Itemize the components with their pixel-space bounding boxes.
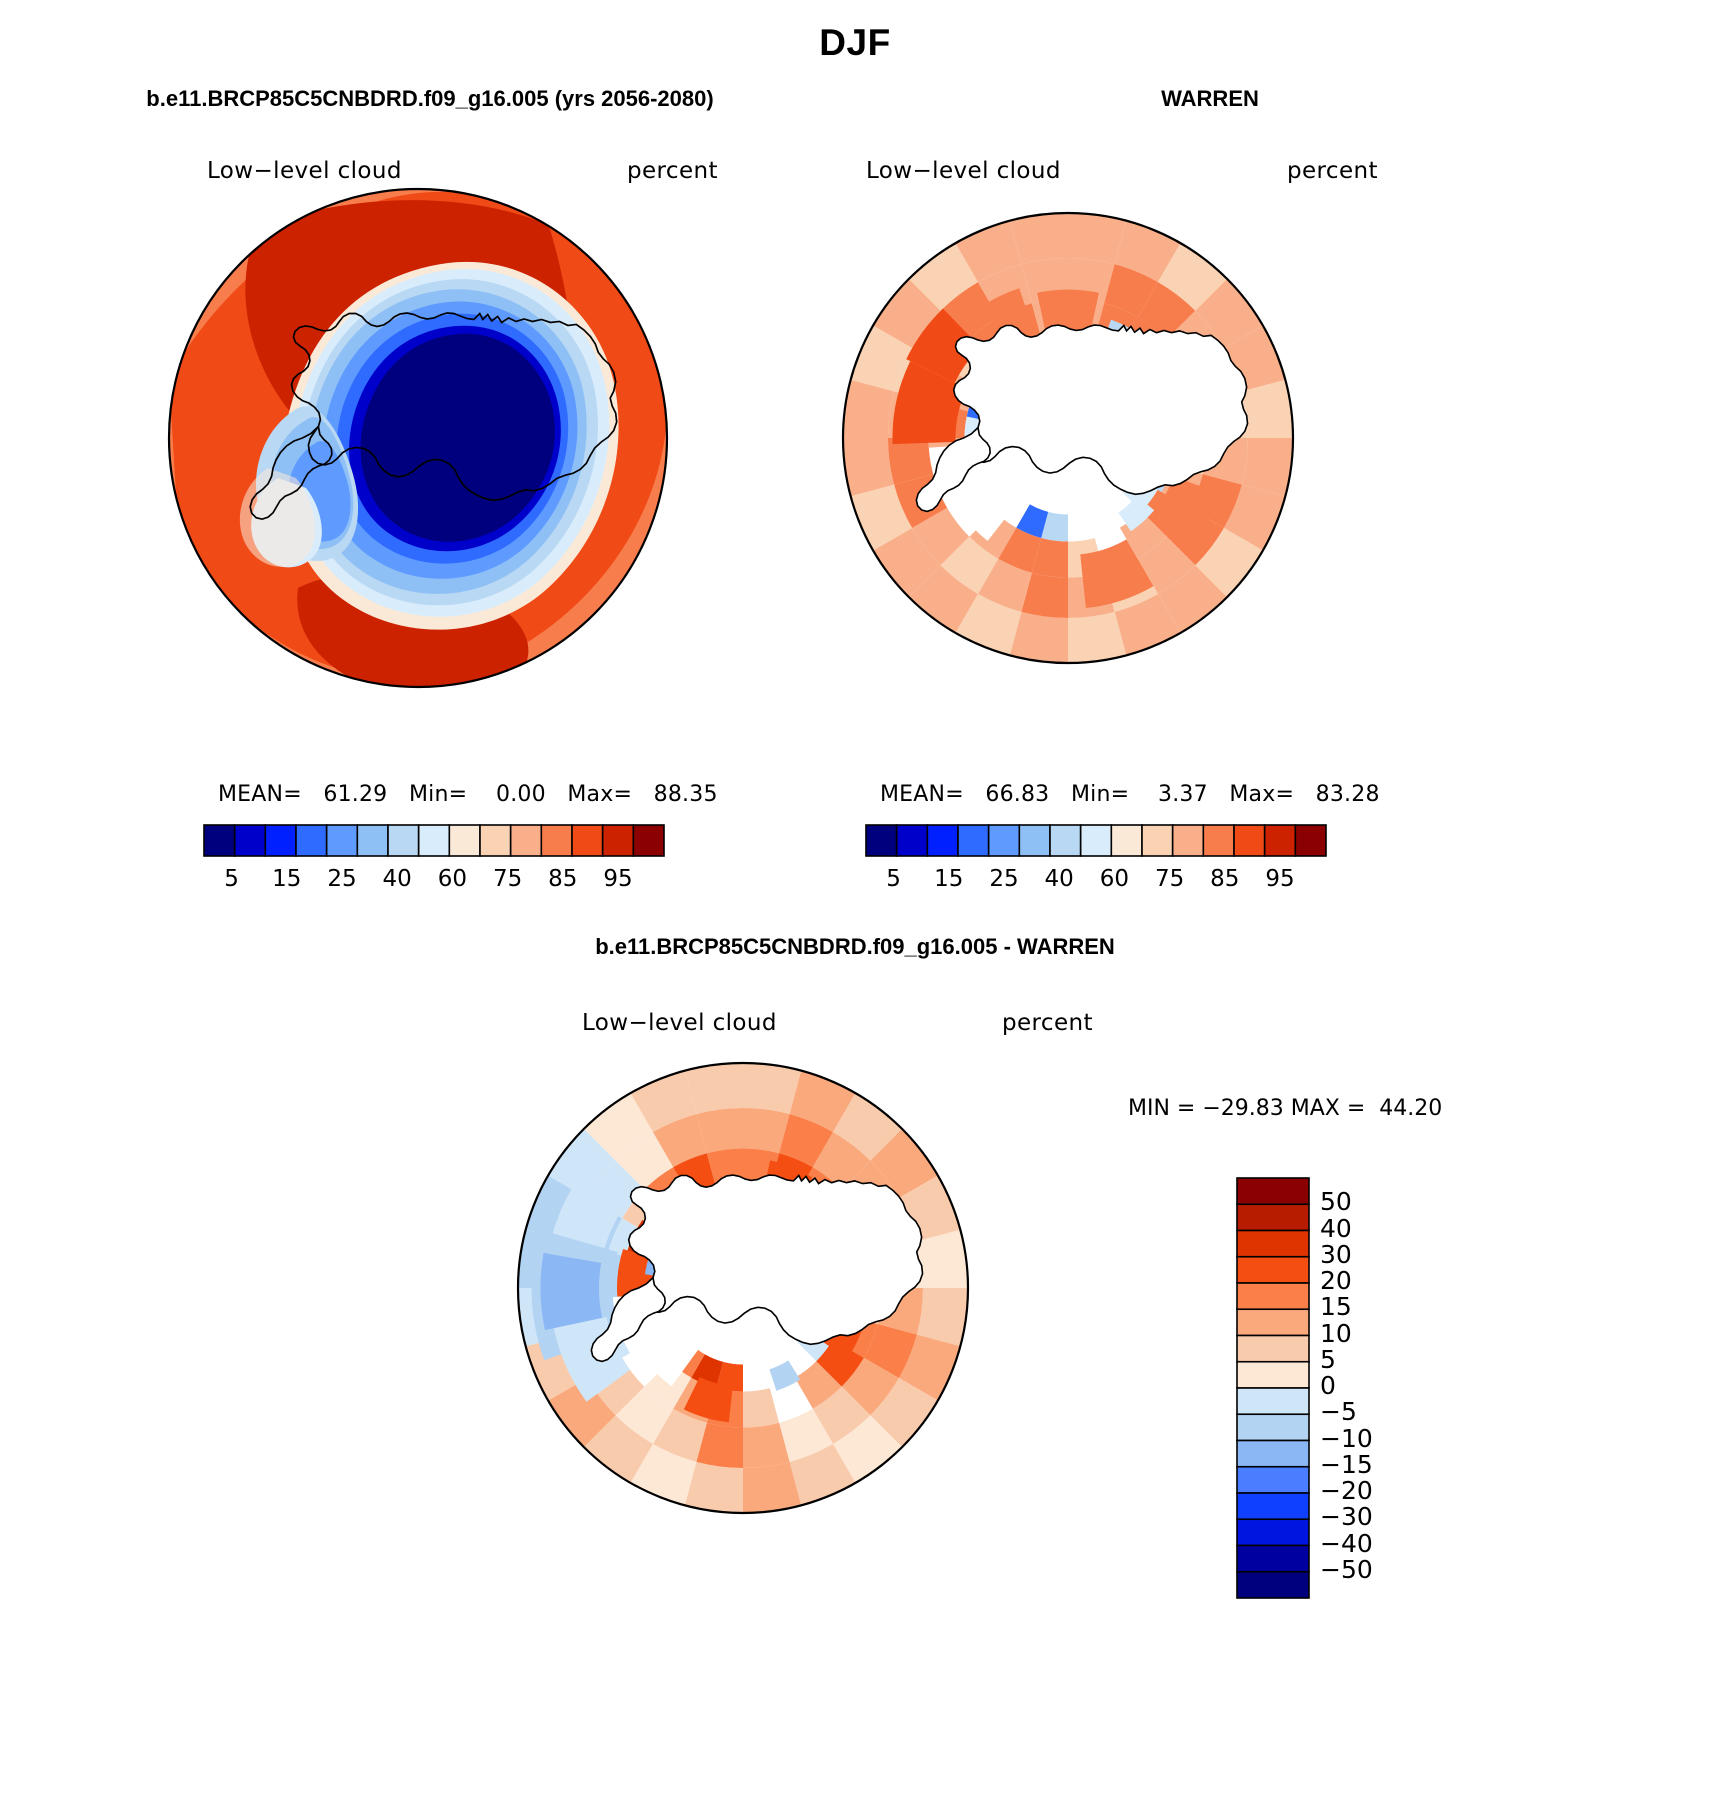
colorbar-cell	[897, 825, 928, 856]
colorbar-cell	[1237, 1414, 1309, 1440]
grid-cell	[743, 1185, 770, 1215]
colorbar-tick: 50	[1320, 1187, 1352, 1216]
model-variable-label: Low−level cloud	[207, 158, 402, 184]
grid-cell	[743, 1388, 779, 1428]
colorbar-cell	[603, 825, 634, 856]
grid-cell	[691, 1188, 723, 1222]
grid-cell	[1195, 279, 1263, 348]
grid-cell	[1016, 338, 1048, 372]
colorbar-cell	[1237, 1362, 1309, 1388]
grid-cell	[1068, 213, 1126, 264]
colorbar-tick: 75	[1148, 866, 1192, 892]
grid-cell	[909, 565, 978, 633]
grid-cell	[548, 1378, 616, 1447]
colorbar-cell	[1050, 825, 1081, 856]
colorbar-cell	[1237, 1231, 1309, 1257]
grid-cell	[631, 1444, 697, 1505]
grid-cell	[1141, 490, 1189, 537]
grid-cell	[929, 438, 969, 474]
grid-cell	[604, 1252, 644, 1288]
colorbar-tick: 60	[1092, 866, 1136, 892]
colorbar-cell	[511, 825, 542, 856]
colorbar-cell	[265, 825, 296, 856]
grid-cell	[584, 1415, 653, 1483]
colorbar-tick: 5	[210, 866, 254, 892]
colorbar-cell	[1237, 1519, 1309, 1545]
grid-cell	[978, 559, 1032, 612]
colorbar-cell	[1237, 1309, 1309, 1335]
colorbar-tick: −5	[1320, 1397, 1357, 1426]
grid-cell	[1104, 264, 1158, 317]
grid-cell	[743, 1108, 790, 1153]
colorbar-tick: 5	[1320, 1345, 1336, 1374]
grid-cell	[1242, 438, 1293, 496]
grid-cell	[554, 1317, 630, 1402]
colorbar-cell	[388, 825, 419, 856]
grid-cell	[770, 1378, 813, 1423]
grid-cell	[653, 1409, 707, 1462]
diff-minmax: MIN = −29.83 MAX = 44.20	[1128, 1096, 1442, 1121]
colorbar-tick: 60	[430, 866, 474, 892]
grid-cell	[1142, 438, 1172, 465]
grid-cell	[541, 1253, 603, 1330]
panel-title-obs: WARREN	[860, 86, 1560, 112]
grid-cell	[1095, 528, 1138, 573]
grid-cell	[1118, 496, 1154, 531]
grid-cell	[1168, 402, 1208, 438]
grid-cell	[763, 1188, 795, 1222]
grid-cell	[707, 1149, 743, 1189]
grid-cell	[1021, 258, 1068, 303]
grid-cell	[870, 1129, 938, 1198]
grid-cell	[781, 1342, 816, 1378]
grid-cell	[584, 1093, 653, 1161]
colorbar-tick: 25	[982, 866, 1026, 892]
grid-cell	[809, 1308, 843, 1340]
grid-cell	[1155, 383, 1183, 421]
grid-cell	[797, 1326, 833, 1361]
grid-cell	[563, 1241, 608, 1288]
grid-cell	[1010, 213, 1068, 264]
grid-cell	[1068, 299, 1104, 339]
grid-cell	[817, 1288, 847, 1315]
grid-cell	[670, 1342, 705, 1378]
grid-cell	[1167, 508, 1224, 566]
grid-cell	[1021, 573, 1068, 618]
grid-cell	[1138, 537, 1196, 594]
grid-cell	[1080, 539, 1153, 608]
colorbar-tick: 40	[1037, 866, 1081, 892]
colorbar-cell	[1237, 1572, 1309, 1598]
grid-cell	[627, 1220, 672, 1262]
grid-cell	[743, 1423, 790, 1468]
grid-cell	[929, 402, 969, 438]
obs-colorbar	[866, 823, 1326, 859]
grid-cell	[968, 386, 1002, 418]
grid-cell	[1168, 438, 1208, 474]
grid-cell	[873, 279, 941, 348]
grid-cell	[716, 1185, 743, 1215]
colorbar-cell	[1142, 825, 1173, 856]
colorbar-tick: 10	[1320, 1319, 1352, 1348]
grid-cell	[1120, 317, 1167, 365]
grid-cell	[967, 389, 997, 421]
colorbar-cell	[1237, 1467, 1309, 1493]
grid-cell	[933, 465, 978, 508]
grid-cell	[1203, 438, 1248, 485]
grid-cell	[1224, 485, 1285, 551]
colorbar-cell	[1237, 1546, 1309, 1572]
grid-cell	[640, 1261, 670, 1288]
grid-cell	[604, 1288, 644, 1324]
grid-cell	[685, 1462, 743, 1513]
colorbar-cell	[235, 825, 266, 856]
grid-cell	[763, 1354, 795, 1388]
colorbar-cell	[1237, 1178, 1309, 1204]
grid-cell	[894, 348, 947, 402]
grid-cell	[779, 1409, 833, 1462]
grid-cell	[622, 1189, 670, 1236]
colorbar-cell	[989, 825, 1020, 856]
grid-cell	[743, 1149, 779, 1189]
grid-cell	[888, 438, 933, 485]
grid-cell	[864, 1324, 917, 1378]
grid-cell	[608, 1218, 653, 1261]
grid-cell	[978, 264, 1032, 317]
grid-cell	[947, 490, 995, 537]
colorbar-cell	[296, 825, 327, 856]
grid-cell	[813, 1132, 871, 1189]
grid-cell	[608, 1315, 653, 1358]
grid-cell	[894, 474, 947, 528]
grid-cell	[969, 317, 1016, 365]
panel-title-diff: b.e11.BRCP85C5CNBDRD.f09_g16.005 - WARRE…	[0, 934, 1710, 960]
colorbar-tick: −30	[1320, 1502, 1373, 1531]
colorbar-tick: 0	[1320, 1371, 1336, 1400]
colorbar-cell	[1237, 1388, 1309, 1414]
grid-cell	[1224, 326, 1285, 392]
grid-cell	[526, 1176, 587, 1242]
grid-cell	[673, 1378, 716, 1423]
colorbar-tick: 15	[1320, 1292, 1352, 1321]
grid-cell	[518, 1230, 569, 1288]
grid-cell	[563, 1288, 608, 1335]
grid-cell	[817, 1261, 847, 1288]
colorbar-tick: −20	[1320, 1476, 1373, 1505]
grid-cell	[929, 438, 1068, 508]
grid-cell	[691, 1354, 723, 1388]
grid-cell	[553, 1172, 627, 1249]
grid-cell	[878, 1288, 923, 1335]
grid-cell	[1068, 612, 1126, 663]
grid-cell	[1095, 303, 1138, 348]
grid-cell	[645, 1248, 673, 1278]
grid-cell	[1203, 391, 1248, 438]
grid-cell	[1134, 386, 1168, 418]
grid-cell	[790, 1444, 856, 1505]
colorbar-tick: 5	[872, 866, 916, 892]
grid-cell	[842, 1358, 899, 1416]
grid-cell	[893, 361, 967, 444]
colorbar-cell	[1019, 825, 1050, 856]
grid-cell	[548, 1129, 616, 1198]
grid-cell	[696, 1423, 743, 1468]
colorbar-tick: 75	[486, 866, 530, 892]
grid-cell	[870, 1378, 938, 1447]
grid-cell	[617, 1249, 657, 1297]
grid-cell	[1041, 512, 1068, 542]
grid-cell	[650, 1195, 706, 1251]
colorbar-cell	[1237, 1441, 1309, 1467]
grid-cell	[816, 1189, 864, 1236]
grid-cell	[917, 1230, 968, 1288]
panel-title-model: b.e11.BRCP85C5CNBDRD.f09_g16.005 (yrs 20…	[0, 86, 860, 112]
grid-cell	[769, 1361, 800, 1391]
colorbar-cell	[541, 825, 572, 856]
grid-cell	[1068, 512, 1095, 542]
grid-cell	[843, 380, 894, 438]
grid-cell	[953, 470, 1027, 541]
grid-cell	[1032, 299, 1068, 339]
colorbar-tick: 85	[1203, 866, 1247, 892]
colorbar-cell	[1081, 825, 1112, 856]
grid-cell	[998, 528, 1041, 573]
colorbar-tick: −10	[1320, 1424, 1373, 1453]
grid-cell	[793, 1181, 839, 1227]
colorbar-cell	[419, 825, 450, 856]
grid-cell	[644, 1361, 691, 1409]
grid-cell	[956, 221, 1022, 282]
grid-cell	[636, 1320, 704, 1387]
grid-cell	[613, 1288, 743, 1353]
grid-cell	[1068, 335, 1095, 365]
grid-cell	[888, 391, 933, 438]
grid-cell	[685, 1063, 743, 1114]
grid-cell	[1106, 492, 1141, 528]
grid-cell	[1016, 504, 1048, 538]
grid-cell	[843, 1252, 883, 1288]
grid-cell	[1120, 511, 1167, 559]
grid-cell	[873, 528, 941, 597]
grid-cell	[1104, 559, 1158, 612]
grid-cell	[643, 1308, 677, 1340]
grid-cell	[1142, 352, 1177, 389]
grid-cell	[631, 1071, 697, 1132]
grid-cell	[569, 1324, 622, 1378]
colorbar-tick: 30	[1320, 1240, 1352, 1269]
colorbar-cell	[572, 825, 603, 856]
colorbar-tick: 95	[596, 866, 640, 892]
grid-cell	[864, 1198, 917, 1252]
colorbar-tick: 20	[1320, 1266, 1352, 1295]
colorbar-tick: 25	[320, 866, 364, 892]
obs-units-label: percent	[1287, 158, 1378, 184]
obs-stats: MEAN= 66.83 Min= 3.37 Max= 83.28	[880, 782, 1380, 807]
grid-cell	[1189, 348, 1242, 402]
colorbar-tick: 95	[1258, 866, 1302, 892]
grid-cell	[912, 311, 969, 369]
grid-cell	[1105, 320, 1152, 358]
grid-cell	[587, 1358, 644, 1416]
grid-cell	[643, 1236, 677, 1268]
grid-cell	[653, 1114, 707, 1167]
colorbar-tick: −15	[1320, 1450, 1373, 1479]
grid-cell	[1141, 339, 1189, 386]
grid-cell	[995, 492, 1030, 528]
colorbar-cell	[327, 825, 358, 856]
colorbar-cell	[927, 825, 958, 856]
grid-cell	[1158, 465, 1203, 508]
grid-cell	[851, 326, 912, 392]
colorbar-cell	[1237, 1257, 1309, 1283]
grid-cell	[743, 1063, 801, 1114]
grid-cell	[978, 365, 1014, 400]
grid-cell	[1142, 456, 1174, 492]
grid-cell	[978, 476, 1014, 511]
grid-cell	[707, 1388, 743, 1428]
grid-cell	[843, 1288, 883, 1324]
grid-cell	[696, 1108, 743, 1153]
colorbar-tick: 40	[375, 866, 419, 892]
colorbar-cell	[449, 825, 480, 856]
colorbar-cell	[633, 825, 664, 856]
colorbar-tick: 40	[1320, 1214, 1352, 1243]
colorbar-tick: 15	[927, 866, 971, 892]
grid-cell	[809, 1236, 843, 1268]
grid-cell	[813, 1387, 871, 1444]
grid-cell	[917, 1288, 968, 1346]
grid-cell	[1068, 258, 1115, 303]
colorbar-cell	[204, 825, 235, 856]
grid-cell	[670, 1198, 705, 1234]
colorbar-tick: 85	[541, 866, 585, 892]
obs-variable-label: Low−level cloud	[866, 158, 1061, 184]
model-stats: MEAN= 61.29 Min= 0.00 Max= 88.35	[218, 782, 718, 807]
grid-cell	[616, 1387, 674, 1444]
season-title: DJF	[0, 22, 1710, 64]
grid-cell	[851, 485, 912, 551]
grid-cell	[1037, 290, 1099, 337]
grid-cell	[1010, 612, 1068, 663]
grid-cell	[878, 1241, 923, 1288]
grid-cell	[640, 1288, 670, 1315]
colorbar-cell	[1237, 1336, 1309, 1362]
figure-canvas: DJF b.e11.BRCP85C5CNBDRD.f09_g16.005 (yr…	[0, 0, 1710, 1806]
grid-cell	[909, 243, 978, 311]
colorbar-tick: −50	[1320, 1555, 1373, 1584]
grid-cell	[1122, 365, 1158, 400]
grid-cell	[781, 1198, 816, 1234]
colorbar-cell	[357, 825, 388, 856]
map-obs	[843, 213, 1293, 663]
grid-cell	[587, 1161, 644, 1219]
grid-cell	[941, 282, 999, 339]
grid-cell	[1120, 317, 1178, 374]
colorbar-cell	[1173, 825, 1204, 856]
grid-cell	[764, 1160, 813, 1204]
grid-cell	[779, 1114, 833, 1167]
map-diff	[518, 1063, 968, 1513]
map-model	[122, 189, 667, 728]
grid-cell	[644, 1167, 691, 1215]
colorbar-cell	[866, 825, 897, 856]
grid-cell	[821, 1311, 865, 1359]
grid-cell	[743, 1362, 770, 1392]
diff-variable-label: Low−level cloud	[582, 1010, 777, 1036]
grid-cell	[1189, 474, 1242, 528]
grid-cell	[1041, 335, 1068, 365]
grid-cell	[1115, 594, 1181, 655]
grid-cell	[1115, 221, 1181, 282]
grid-cell	[941, 537, 999, 594]
colorbar-cell	[1295, 825, 1326, 856]
grid-cell	[684, 1377, 733, 1422]
grid-cell	[795, 1167, 842, 1215]
grid-cell	[653, 1215, 689, 1250]
grid-cell	[833, 1315, 878, 1358]
grid-cell	[673, 1153, 716, 1198]
colorbar-tick: 15	[265, 866, 309, 892]
colorbar-cell	[1265, 825, 1296, 856]
colorbar-cell	[1203, 825, 1234, 856]
grid-cell	[968, 458, 1002, 490]
grid-cell	[797, 1215, 833, 1250]
grid-cell	[531, 1230, 620, 1361]
colorbar-cell	[1237, 1283, 1309, 1309]
grid-cell	[899, 1335, 960, 1401]
grid-cell	[770, 1153, 813, 1198]
grid-cell	[743, 1462, 801, 1513]
grid-cell	[1068, 573, 1115, 618]
grid-cell	[980, 288, 1033, 345]
grid-cell	[653, 1326, 689, 1361]
diff-colorbar	[1235, 1178, 1315, 1602]
grid-cell	[965, 411, 995, 438]
grid-cell	[1068, 538, 1104, 578]
colorbar-cell	[1237, 1204, 1309, 1230]
colorbar-tick: −40	[1320, 1529, 1373, 1558]
grid-cell	[965, 438, 995, 465]
grid-cell	[833, 1415, 902, 1483]
grid-cell	[843, 438, 894, 496]
grid-cell	[1138, 282, 1196, 339]
colorbar-cell	[1111, 825, 1142, 856]
grid-cell	[995, 348, 1030, 384]
model-colorbar	[204, 823, 664, 859]
grid-cell	[622, 1340, 670, 1387]
grid-cell	[833, 1093, 902, 1161]
grid-cell	[1158, 368, 1203, 411]
grid-cell	[1149, 476, 1220, 550]
grid-cell	[969, 511, 1016, 559]
grid-cell	[1158, 565, 1227, 633]
grid-cell	[716, 1362, 743, 1392]
grid-cell	[1088, 504, 1120, 538]
model-units-label: percent	[627, 158, 718, 184]
grid-cell	[912, 508, 969, 566]
grid-cell	[526, 1335, 587, 1401]
grid-cell	[1142, 411, 1172, 438]
colorbar-cell	[958, 825, 989, 856]
grid-cell	[569, 1198, 622, 1252]
grid-cell	[518, 1288, 569, 1346]
grid-cell	[933, 368, 978, 411]
colorbar-cell	[480, 825, 511, 856]
grid-cell	[842, 1161, 899, 1219]
colorbar-cell	[1237, 1493, 1309, 1519]
grid-cell	[816, 1340, 864, 1387]
grid-cell	[906, 309, 980, 383]
